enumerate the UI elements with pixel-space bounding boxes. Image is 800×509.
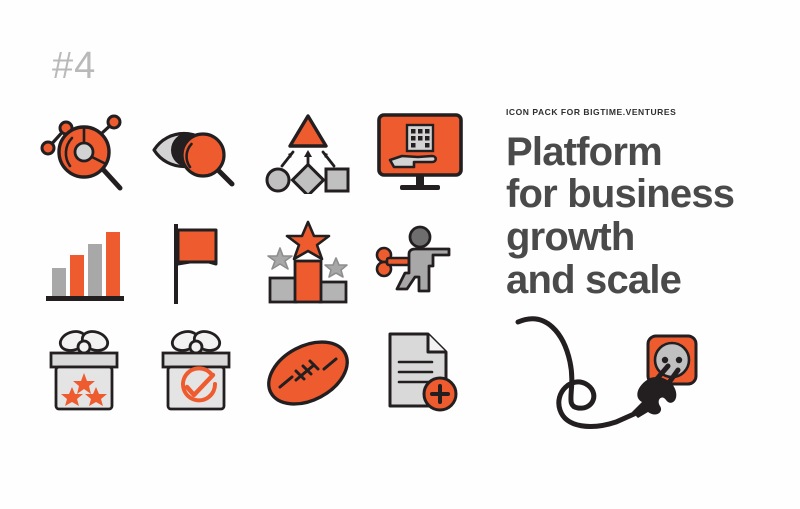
headline-line-4: and scale [506, 259, 786, 302]
slide-number-label: #4 [52, 47, 96, 85]
winner-podium-icon[interactable] [252, 208, 364, 318]
windup-runner-icon[interactable] [364, 208, 476, 318]
text-column: ICON PACK FOR BIGTIME.VENTURES Platform … [506, 108, 786, 302]
page-title: Platform for business growth and scale [506, 131, 786, 302]
icon-grid [28, 98, 478, 428]
monitor-hand-building-icon[interactable] [364, 98, 476, 208]
headline-line-3: growth [506, 216, 786, 259]
network-search-icon[interactable] [28, 98, 140, 208]
eye-search-icon[interactable] [140, 98, 252, 208]
headline-line-1: Platform [506, 131, 786, 174]
plug-and-socket-illustration [498, 300, 798, 480]
headline-line-2: for business [506, 173, 786, 216]
growth-bar-chart-icon[interactable] [28, 208, 140, 318]
gift-check-icon[interactable] [140, 318, 252, 428]
document-add-icon[interactable] [364, 318, 476, 428]
shapes-to-triangle-icon[interactable] [252, 98, 364, 208]
gift-stars-icon[interactable] [28, 318, 140, 428]
eyebrow-text: ICON PACK FOR BIGTIME.VENTURES [506, 108, 786, 117]
slide-canvas: #4 [0, 0, 800, 509]
flag-icon[interactable] [140, 208, 252, 318]
football-icon[interactable] [252, 318, 364, 428]
